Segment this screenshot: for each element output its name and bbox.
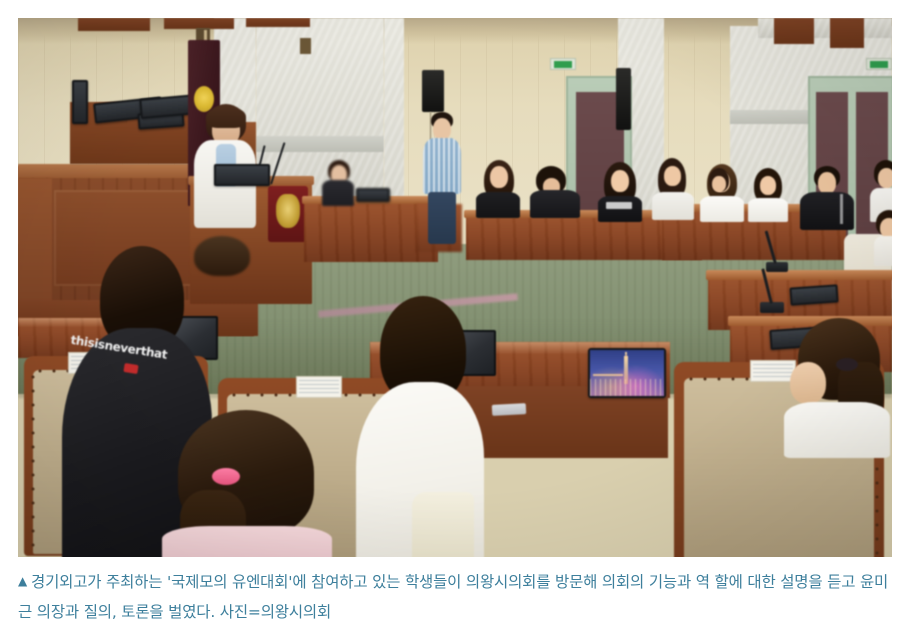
student-g-head [712,176,726,192]
person-fg-ponytail-pink [160,410,360,557]
ceiling-trim-right3 [830,18,864,48]
student-h-stripe [840,194,843,224]
student-i-head [878,168,892,188]
caption-line-1: 경기외고가 주최하는 '국제모의 유엔대회'에 참여하고 있는 학생들이 의왕시… [31,573,710,591]
fg-right-hairtie [836,358,858,371]
photo-scene: thisisneverthat [18,18,892,557]
podium-monitor-screen [216,166,268,184]
standing-man-shirt [423,138,461,194]
staff-monitor-screen [358,190,388,200]
dais-monitor-1-screen [74,82,86,122]
podium-monitor [214,164,270,186]
standing-man-head [433,118,451,140]
student-g [706,168,732,212]
standing-man-jeans [428,192,456,244]
wall-speaker-left [422,70,444,112]
mic-base-1 [766,262,788,272]
dais-monitor-1 [72,80,88,124]
person-fg-ponytail-right [784,318,892,458]
city-view-monitor-screen [590,350,664,396]
staff-top [322,180,354,206]
student-h-shirt [800,192,854,230]
exit-sign-left [550,58,576,70]
city-bridge [593,374,623,376]
speaker-hair-front [206,106,246,128]
person-fg-white-top [356,296,486,557]
city-tower-spire [625,352,627,358]
fg-pink-hairtie [212,468,240,485]
phone-center-desk [492,403,527,416]
student-f-head [760,176,776,195]
exit-icon-right [870,61,888,68]
student-b-shirt [530,190,580,218]
podium-emblem [276,194,300,228]
fg-partial-hair [194,236,250,276]
fg-right-neck [790,362,826,404]
student-f-shirt [748,198,788,222]
student-b [530,166,582,216]
staff-monitor [356,188,390,202]
chair-front-left-studs-side [26,370,38,554]
wall-speaker-right [616,68,631,130]
ceiling-trim-right2 [774,18,814,44]
student-c-shirt [598,196,642,222]
chair-front-center-label [296,376,342,398]
fg-right-top [784,402,890,458]
article-photo-page: thisisneverthat [0,0,914,633]
exit-icon-left [554,61,572,68]
photo-caption: ▲▲ 경기외고가 주최하는 '국제모의 유엔대회'에 참여하고 있는 학생들이 … [18,566,896,627]
desk-laptop-1 [789,284,838,305]
member-desk-right-edge [706,270,892,280]
student-d [652,158,694,218]
article-photo: thisisneverthat [18,18,892,557]
student-a-head [490,166,508,188]
city-view-monitor [588,348,666,398]
student-f [748,168,788,220]
person-side-seat [874,210,892,266]
ceiling-trim-left [78,18,150,31]
person-staff-seated [320,160,356,204]
student-a-shirt [476,192,520,218]
student-h-dark-shirt [800,166,854,228]
desk-laptop-1-screen [792,286,837,303]
student-d-shirt [652,192,694,220]
exit-sign-right [866,58,892,70]
student-c-head [611,170,629,192]
side-seat-shirt [874,236,892,266]
wall-fixture-b [300,38,311,54]
person-standing-man [422,112,462,244]
city-lights [590,379,664,396]
fg-white-skirt [412,492,474,557]
stone-band-center [256,136,384,152]
dais-left-block [18,178,52,308]
student-a [474,160,522,216]
side-seat-head [880,218,892,238]
student-c-shirt-text [606,202,632,209]
student-c [596,162,644,220]
student-d-head [664,166,681,186]
caption-triangle-icon: ▲ [18,574,27,588]
student-h-head [818,172,836,194]
person-fg-partial-head [194,236,250,276]
fg-pink-top [162,526,332,557]
mic-base-2 [760,302,784,313]
ceiling-trim-right [246,18,310,27]
